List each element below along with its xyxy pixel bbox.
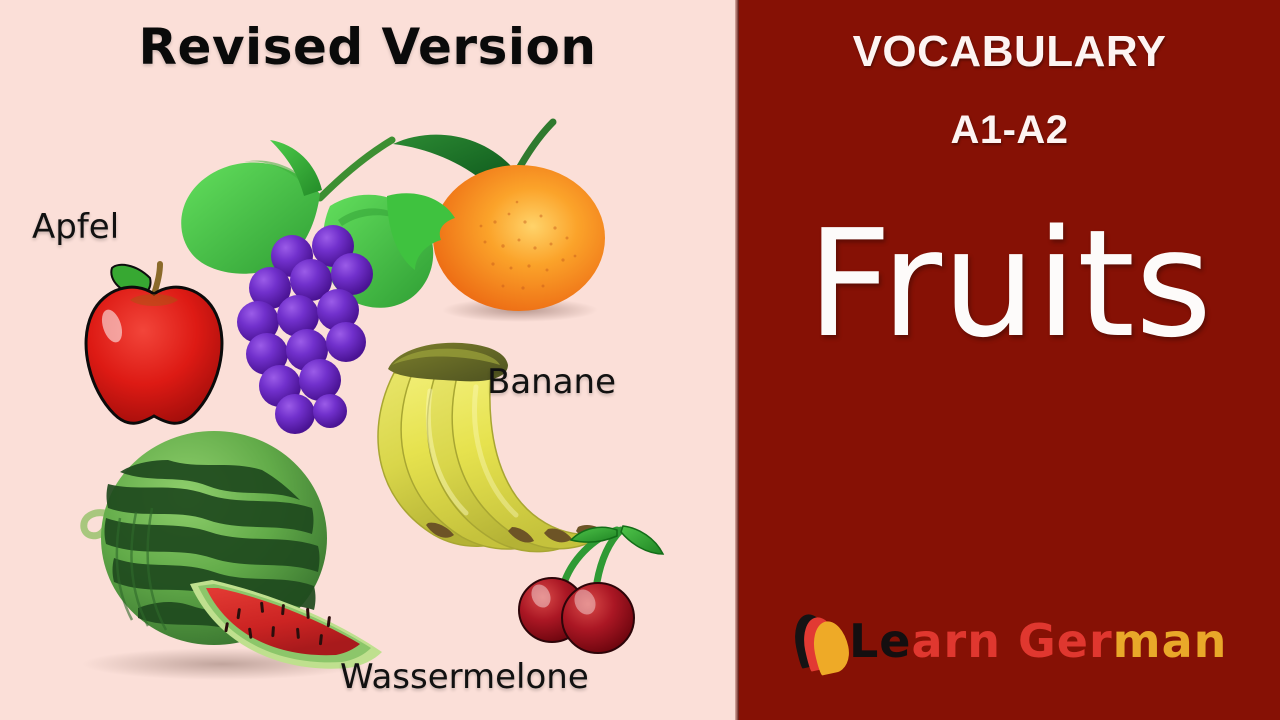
- topic-title: Fruits: [739, 210, 1280, 358]
- slide-canvas: Revised Version: [0, 0, 1280, 720]
- cherries-illustration: [505, 508, 670, 658]
- logo-text-segment-1: Le: [849, 614, 912, 668]
- logo-text-segment-2: arn Ger: [912, 614, 1113, 668]
- vocabulary-heading: VOCABULARY: [739, 27, 1280, 77]
- watermelon-illustration: [62, 412, 392, 682]
- logo-petals-icon: [793, 612, 857, 680]
- revised-version-heading: Revised Version: [0, 18, 735, 76]
- fruit-label-apfel: Apfel: [32, 207, 119, 247]
- fruit-label-banane: Banane: [487, 362, 616, 402]
- logo-text-segment-3: man: [1113, 614, 1228, 668]
- level-heading: A1-A2: [739, 108, 1280, 153]
- fruit-label-wassermelone: Wassermelone: [340, 657, 589, 697]
- learn-german-logo: Learn German: [793, 608, 1213, 698]
- logo-wordmark: Learn German: [849, 614, 1227, 668]
- orange-illustration: [385, 110, 635, 325]
- apple-illustration: [78, 250, 230, 435]
